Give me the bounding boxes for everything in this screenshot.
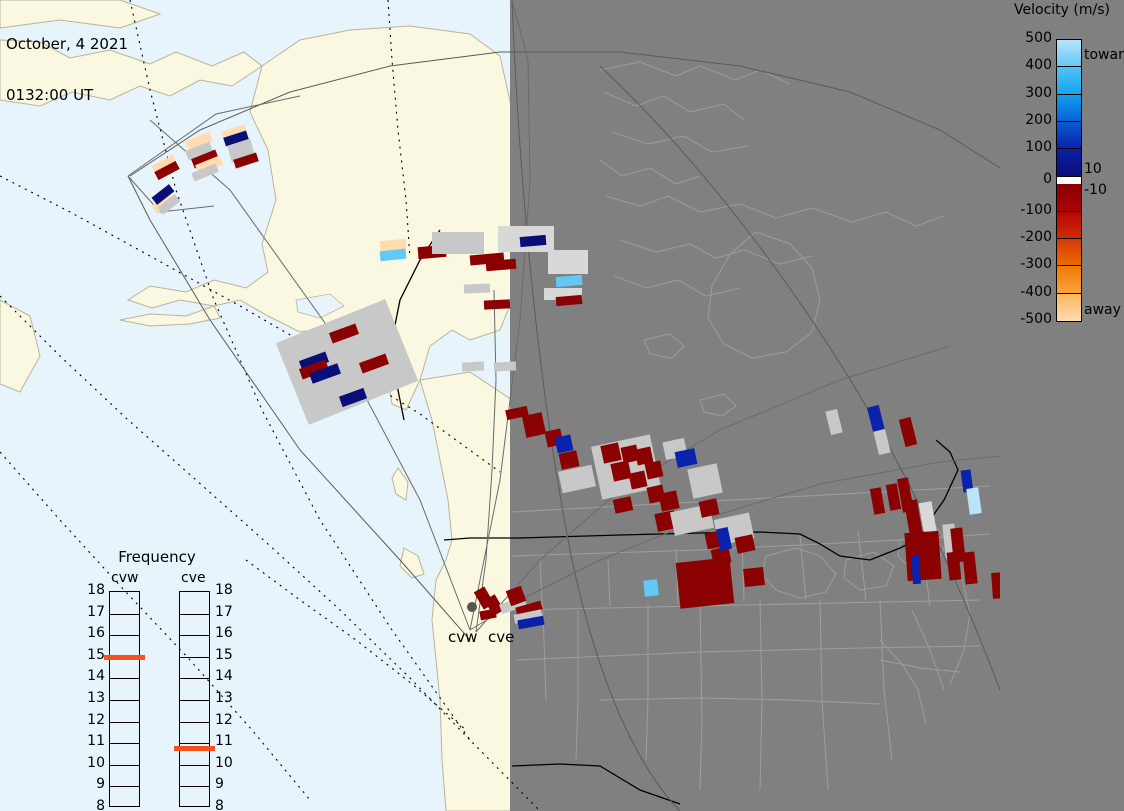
velocity-cell[interactable] [687,463,723,499]
velocity-cell[interactable] [600,442,621,463]
velocity-cell[interactable] [676,557,735,608]
colorbar-segment [1057,212,1081,239]
colorbar-label-toward: toward [1084,47,1124,63]
velocity-cell[interactable] [462,361,484,371]
frequency-tick-cve: 8 [215,798,224,811]
timestamp: October, 4 2021 0132:00 UT [6,2,128,138]
frequency-legend: Frequency cvw cve 1817161514131211109818… [85,545,260,775]
colorbar-segment [1057,122,1081,149]
frequency-column-title-cvw: cvw [111,570,138,586]
frequency-marker-cvw [104,655,145,660]
frequency-tick-cve: 11 [215,733,233,749]
timestamp-time: 0132:00 UT [6,87,128,104]
frequency-tick-cvw: 8 [85,798,105,811]
frequency-marker-cve [174,746,215,751]
colorbar-tick: -200 [1020,229,1052,245]
frequency-tick-cve: 12 [215,712,233,728]
colorbar-segment [1057,294,1081,321]
frequency-gridline [180,657,209,658]
frequency-gridline [180,743,209,744]
colorbar-tick: 300 [1025,85,1052,101]
velocity-cell[interactable] [484,299,510,309]
frequency-gridline [110,614,139,615]
frequency-gridline [110,722,139,723]
frequency-column-title-cve: cve [181,570,206,586]
velocity-cell[interactable] [610,460,631,481]
frequency-tick-cvw: 11 [85,733,105,749]
frequency-tick-cve: 16 [215,625,233,641]
superdarn-velocity-map: October, 4 2021 0132:00 UT cvw cve Frequ… [0,0,1124,811]
colorbar-title: Velocity (m/s) [1000,2,1124,18]
frequency-gridline [110,678,139,679]
map-canvas[interactable]: October, 4 2021 0132:00 UT cvw cve Frequ… [0,0,1000,811]
frequency-tick-cvw: 13 [85,690,105,706]
frequency-tick-cvw: 14 [85,668,105,684]
frequency-tick-cvw: 12 [85,712,105,728]
velocity-cell[interactable] [548,250,588,274]
frequency-gridline [180,614,209,615]
frequency-tick-cvw: 15 [85,647,105,663]
colorbar-segment [1057,184,1081,211]
velocity-cell[interactable] [743,567,765,587]
frequency-bar-cve[interactable] [179,591,210,807]
frequency-tick-cve: 10 [215,755,233,771]
frequency-gridline [180,700,209,701]
frequency-gridline [110,635,139,636]
velocity-cell[interactable] [432,232,484,254]
colorbar-label-negative-threshold: -10 [1084,182,1107,198]
site-label-cve: cve [488,628,514,646]
velocity-cell[interactable] [464,283,490,293]
velocity-cell[interactable] [658,490,679,511]
colorbar-segment [1057,95,1081,122]
radar-site-marker [467,602,477,612]
frequency-tick-cve: 17 [215,604,233,620]
colorbar-segment [1057,266,1081,293]
timestamp-date: October, 4 2021 [6,36,128,53]
colorbar-segment [1057,149,1081,176]
frequency-gridline [180,765,209,766]
colorbar-tick: 400 [1025,57,1052,73]
colorbar-label-positive-threshold: 10 [1084,161,1102,177]
colorbar-segment [1057,239,1081,266]
velocity-cell[interactable] [645,461,664,480]
frequency-tick-cve: 15 [215,647,233,663]
velocity-cell[interactable] [904,531,941,581]
frequency-gridline [180,635,209,636]
frequency-gridline [180,678,209,679]
site-label-cvw: cvw [448,628,477,646]
velocity-cell[interactable] [494,361,516,371]
velocity-cell[interactable] [643,579,659,596]
colorbar-label-away: away [1084,302,1121,318]
velocity-cell[interactable] [555,435,574,454]
colorbar-tick: 0 [1043,171,1052,187]
frequency-tick-cve: 14 [215,668,233,684]
frequency-gridline [110,765,139,766]
frequency-tick-cvw: 16 [85,625,105,641]
night-shading [510,0,1000,811]
frequency-tick-cve: 9 [215,776,224,792]
frequency-legend-title: Frequency [97,548,217,566]
colorbar-segment [1057,67,1081,94]
frequency-gridline [180,722,209,723]
frequency-gridline [180,786,209,787]
colorbar-panel: Velocity (m/s) 5004003002001000-100-200-… [1000,0,1124,811]
colorbar-tick: -300 [1020,256,1052,272]
frequency-gridline [110,700,139,701]
colorbar-tick: -400 [1020,284,1052,300]
frequency-bar-cvw[interactable] [109,591,140,807]
frequency-gridline [110,743,139,744]
colorbar-tick: 500 [1025,30,1052,46]
colorbar-segment [1057,40,1081,67]
colorbar[interactable] [1056,39,1082,322]
frequency-tick-cvw: 18 [85,582,105,598]
frequency-tick-cve: 18 [215,582,233,598]
frequency-tick-cvw: 17 [85,604,105,620]
colorbar-segment [1057,177,1081,185]
colorbar-tick: 200 [1025,112,1052,128]
frequency-tick-cve: 13 [215,690,233,706]
frequency-tick-cvw: 9 [85,776,105,792]
colorbar-tick: -100 [1020,202,1052,218]
velocity-cell[interactable] [629,471,648,490]
colorbar-tick: 100 [1025,139,1052,155]
frequency-gridline [110,786,139,787]
frequency-tick-cvw: 10 [85,755,105,771]
colorbar-tick: -500 [1020,311,1052,327]
